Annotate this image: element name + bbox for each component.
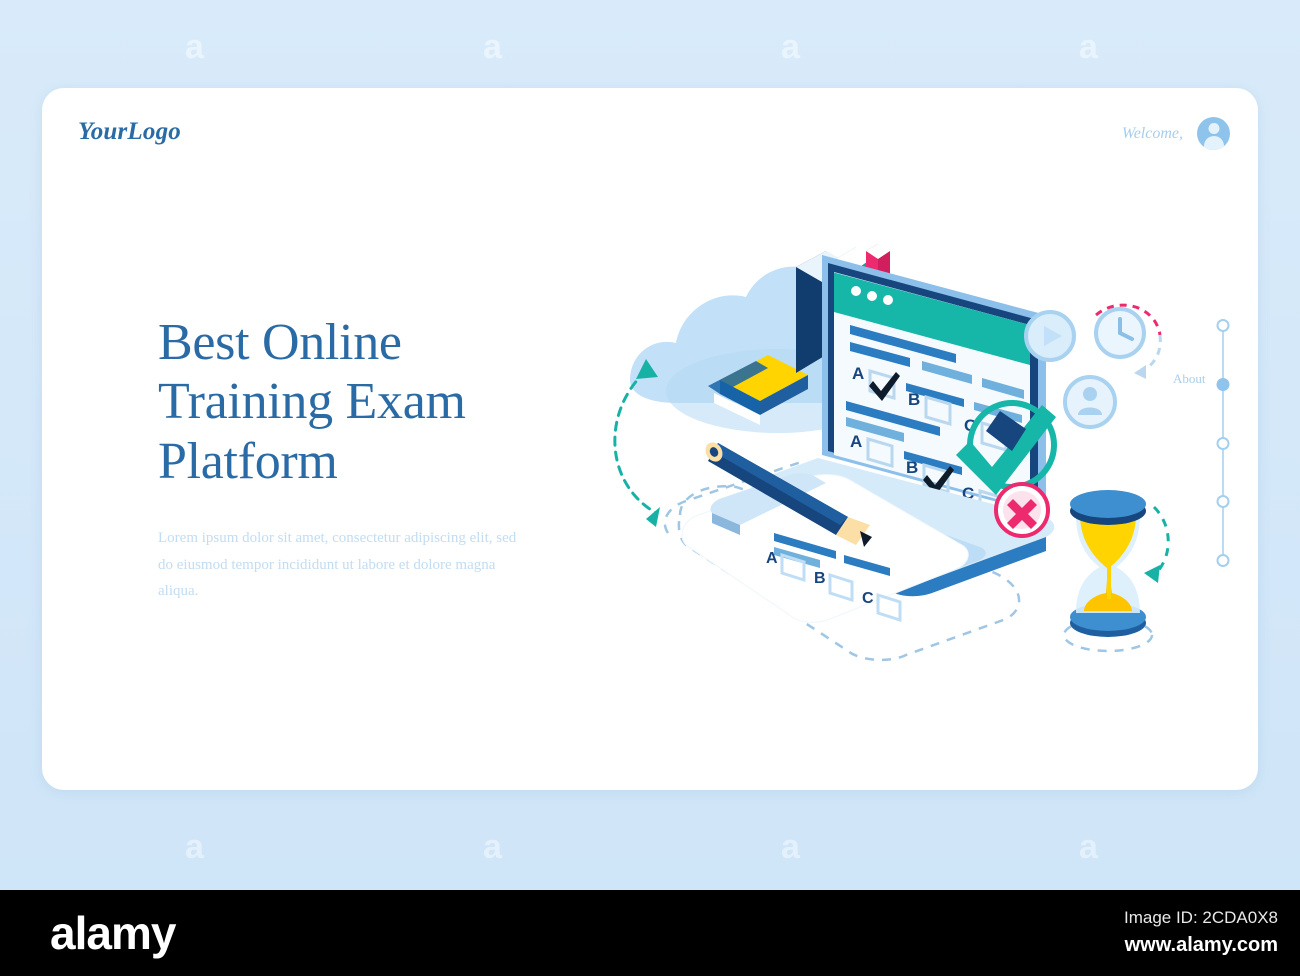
background-watermark-glyph: a bbox=[185, 828, 204, 867]
section-nav: About bbox=[1222, 325, 1224, 560]
background-watermark-glyph: a bbox=[483, 828, 502, 867]
header-user-area: Welcome, bbox=[1122, 117, 1230, 150]
alamy-logo: alamy bbox=[50, 906, 175, 960]
welcome-label: Welcome, bbox=[1122, 125, 1183, 143]
section-nav-dot-3[interactable] bbox=[1217, 495, 1230, 508]
section-nav-dot-4[interactable] bbox=[1217, 554, 1230, 567]
option-label-b2: B bbox=[906, 458, 918, 477]
background-watermark-glyph: a bbox=[483, 28, 502, 67]
stock-watermark-bar: alamy Image ID: 2CDA0X8 www.alamy.com bbox=[0, 890, 1300, 976]
window-dot-2 bbox=[867, 291, 877, 301]
background-watermark-glyph: a bbox=[781, 28, 800, 67]
paper-option-c: C bbox=[862, 590, 874, 607]
alamy-image-id: Image ID: 2CDA0X8 bbox=[1124, 908, 1278, 928]
hourglass-dashed-arc bbox=[1154, 507, 1168, 575]
background-watermark-glyph: a bbox=[1079, 828, 1098, 867]
paper-option-b: B bbox=[814, 570, 826, 587]
user-icon-ring bbox=[1065, 377, 1115, 427]
section-nav-dot-0[interactable] bbox=[1217, 319, 1230, 332]
user-icon-head bbox=[1083, 387, 1097, 401]
clock-arrow-head bbox=[1134, 365, 1146, 379]
section-nav-dot-1[interactable]: About bbox=[1217, 378, 1230, 391]
window-dot-1 bbox=[851, 286, 861, 296]
user-icon-group bbox=[1065, 377, 1115, 427]
option-label-b1: B bbox=[908, 390, 920, 409]
hourglass-group bbox=[1064, 490, 1168, 651]
hero-subcopy: Lorem ipsum dolor sit amet, consectetur … bbox=[158, 525, 518, 605]
background-watermark-glyph: a bbox=[1079, 28, 1098, 67]
hourglass-arrow-head bbox=[1144, 565, 1160, 583]
background-watermark-glyph: a bbox=[781, 828, 800, 867]
play-icon-group bbox=[1026, 312, 1074, 360]
section-nav-dot-2[interactable] bbox=[1217, 437, 1230, 450]
brand-logo[interactable]: YourLogo bbox=[78, 118, 181, 146]
hourglass-sand-stream bbox=[1107, 545, 1111, 599]
hourglass-cap bbox=[1070, 490, 1146, 518]
option-label-a2: A bbox=[850, 432, 862, 451]
paper-option-a: A bbox=[766, 550, 778, 567]
page-title: Best Online Training Exam Platform bbox=[158, 313, 588, 491]
isometric-online-exam-illustration: A B C A B C bbox=[560, 215, 1200, 695]
alamy-url: www.alamy.com bbox=[1125, 934, 1278, 957]
clock-icon-group bbox=[1096, 305, 1160, 379]
cloud-arrow-head-2 bbox=[646, 507, 660, 527]
window-dot-3 bbox=[883, 295, 893, 305]
user-avatar-icon[interactable] bbox=[1197, 117, 1230, 150]
cross-badge-group bbox=[996, 484, 1048, 536]
background-watermark-glyph: a bbox=[185, 28, 204, 67]
